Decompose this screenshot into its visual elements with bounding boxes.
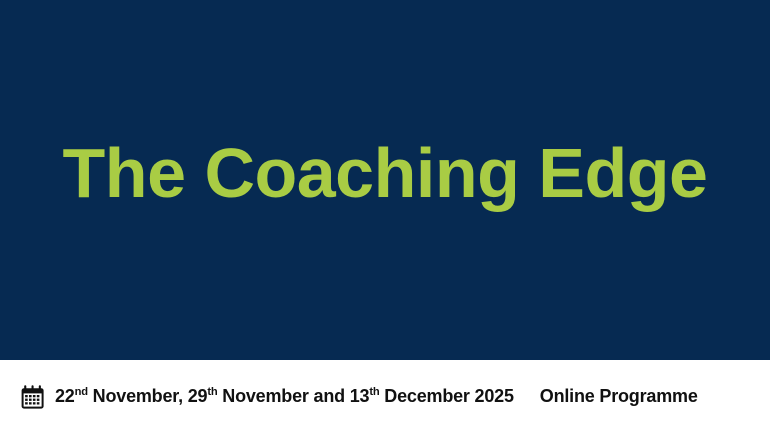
date-2-month: November and [217,386,349,406]
page-title: The Coaching Edge [63,137,708,211]
event-dates: 22nd November, 29th November and 13th De… [55,386,514,407]
date-3-number: 13 [350,386,370,406]
delivery-mode-label: Online Programme [540,386,698,407]
date-1-number: 22 [55,386,75,406]
date-2-suffix: th [207,386,217,398]
date-2-number: 29 [188,386,208,406]
date-3-suffix: th [369,386,379,398]
promo-slide: The Coaching Edge [0,0,770,433]
date-1-month: November, [88,386,188,406]
date-1-suffix: nd [75,386,88,398]
footer-bar: 22nd November, 29th November and 13th De… [0,360,770,433]
footer-content: 22nd November, 29th November and 13th De… [20,384,770,410]
date-3-month: December 2025 [379,386,513,406]
calendar-icon [20,384,46,410]
hero-banner: The Coaching Edge [0,0,770,360]
